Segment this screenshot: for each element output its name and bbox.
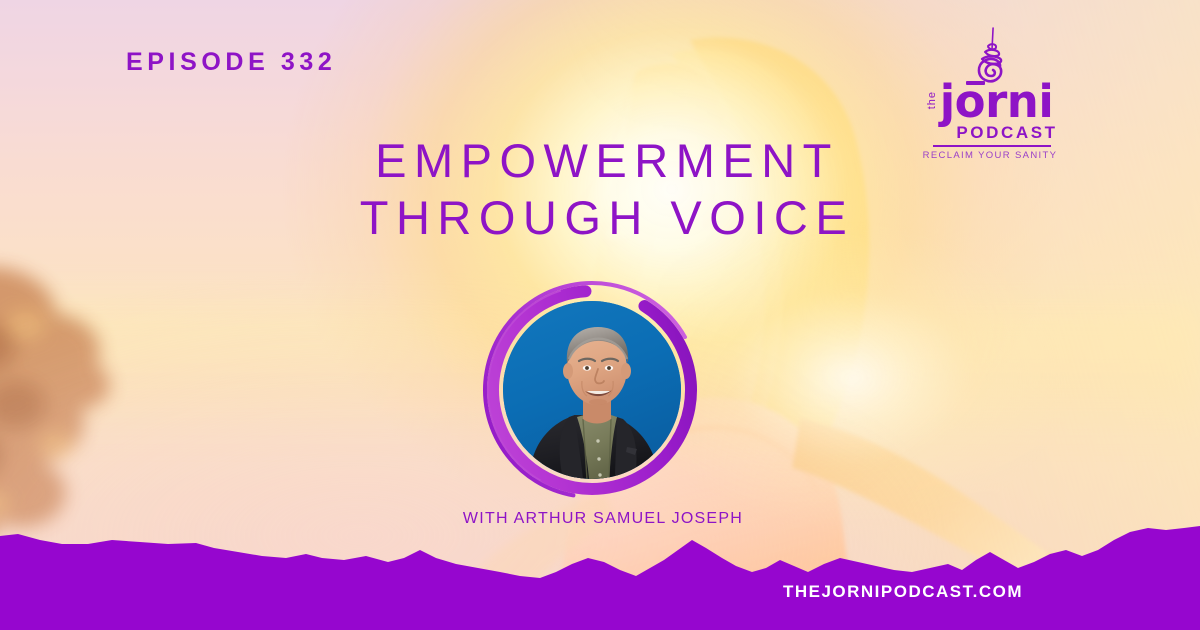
- macron-accent: [966, 81, 985, 85]
- logo-tagline: RECLAIM YOUR SANITY: [905, 150, 1075, 161]
- episode-cover-canvas: EPISODE 332 EMPOWERMENT THROUGH VOICE: [0, 0, 1200, 630]
- guest-headshot-image: [503, 301, 681, 479]
- bottom-purple-band: [0, 500, 1200, 630]
- logo-wordmark: the jorni: [905, 78, 1075, 124]
- logo-the-label: the: [927, 91, 938, 109]
- logo-divider-rule: [933, 145, 1051, 147]
- logo-jorni-letters: jorni: [940, 75, 1054, 128]
- episode-title-line-2: THROUGH VOICE: [14, 189, 1200, 246]
- website-url[interactable]: THEJORNIPODCAST.COM: [640, 582, 1200, 602]
- episode-title-line-1: EMPOWERMENT: [375, 134, 839, 187]
- guest-portrait: [489, 287, 695, 493]
- logo-podcast-label: PODCAST: [905, 123, 1075, 143]
- podcast-logo[interactable]: the jorni PODCAST RECLAIM YOUR SANITY: [905, 26, 1075, 158]
- logo-jorni-text: jorni: [940, 79, 1054, 124]
- episode-number-label: EPISODE 332: [126, 48, 336, 77]
